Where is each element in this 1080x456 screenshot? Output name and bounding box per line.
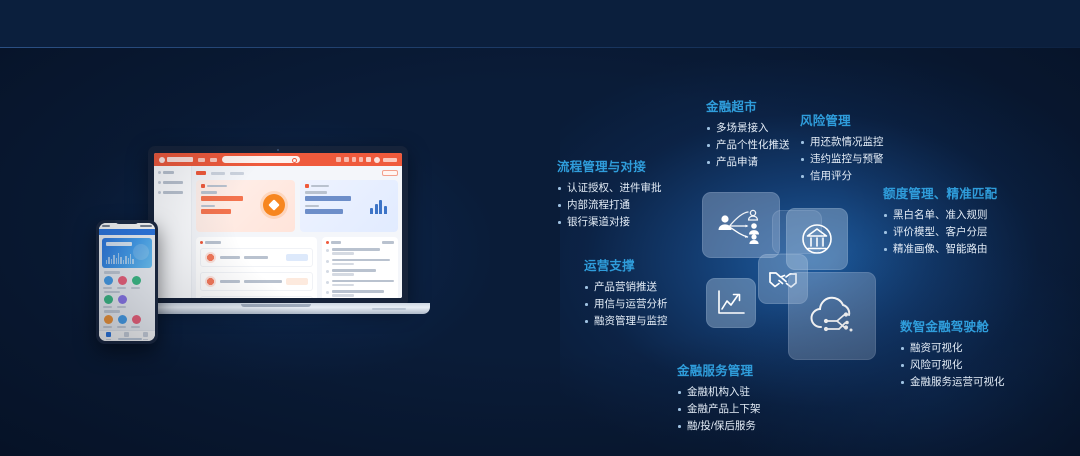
- news-title: [332, 259, 390, 262]
- laptop-screen: [154, 153, 402, 298]
- app-icon-label: [117, 287, 126, 289]
- sidebar-item-icon: [158, 171, 161, 174]
- growth-chart-tile: [706, 278, 756, 328]
- dashboard-avatar: [374, 157, 380, 163]
- block-items: 用还款情况监控 违约监控与预警 信用评分: [800, 134, 884, 185]
- app-icon: [117, 276, 127, 289]
- stat-value: [305, 196, 351, 201]
- panel-icon: [200, 241, 203, 244]
- stat-card-title: [207, 185, 227, 188]
- app-icon: [117, 315, 127, 328]
- dashboard-body: [154, 166, 402, 298]
- sidebar-item-icon: [158, 181, 161, 184]
- stat-card-header: [305, 184, 394, 188]
- tab-item: [211, 172, 225, 175]
- panel-header: [200, 241, 313, 244]
- task-icon: [205, 276, 216, 287]
- stat-value: [201, 196, 243, 201]
- block-item: 内部流程打通: [557, 197, 662, 214]
- block-item: 多场景接入: [706, 120, 790, 137]
- laptop-base: [126, 303, 430, 314]
- cloud-computing-tile: [788, 272, 876, 360]
- laptop-trackpad-notch: [241, 304, 311, 307]
- block-title: 流程管理与对接: [557, 156, 662, 175]
- tab-item: [230, 172, 244, 175]
- news-row: [326, 248, 394, 255]
- news-title: [332, 248, 380, 251]
- people-network-icon: [717, 206, 765, 244]
- app-icon-glyph: [132, 315, 141, 324]
- news-date: [332, 284, 354, 287]
- app-icon: [103, 295, 113, 308]
- app-icon-glyph: [104, 315, 113, 324]
- block-item: 融资可视化: [900, 340, 1005, 357]
- phone-tab-profile: [143, 332, 148, 340]
- growth-chart-icon: [716, 289, 746, 317]
- app-icon: [131, 315, 141, 328]
- stat-card-header: [201, 184, 290, 188]
- block-item: 用还款情况监控: [800, 134, 884, 151]
- dashboard-username: [383, 158, 397, 162]
- dashboard-sidebar: [154, 166, 192, 298]
- phone-section-title: [104, 271, 120, 274]
- app-icon-glyph: [118, 315, 127, 324]
- sidebar-item-label: [163, 181, 183, 184]
- block-items: 产品营销推送 用信与运营分析 融资管理与监控: [584, 279, 668, 330]
- panel-icon: [326, 241, 329, 244]
- app-icon-label: [131, 287, 140, 289]
- task-list-panel: [196, 237, 317, 298]
- block-financial-supermarket: 金融超市 多场景接入 产品个性化推送 产品申请: [706, 96, 790, 171]
- bank-coin-icon: [800, 222, 834, 256]
- dashboard-flag-icon: [359, 157, 363, 162]
- dashboard-menu-item: [198, 158, 205, 162]
- app-icon-glyph: [118, 295, 127, 304]
- news-bullet-icon: [326, 291, 329, 294]
- block-items: 认证授权、进件审批 内部流程打通 银行渠道对接: [557, 180, 662, 231]
- phone-app-mockup: [96, 220, 158, 344]
- news-title: [332, 269, 376, 272]
- task-desc: [244, 280, 282, 283]
- block-item: 金融服务运营可视化: [900, 374, 1005, 391]
- phone-icon-grid: [103, 295, 151, 308]
- stat-value: [201, 209, 231, 214]
- task-name: [220, 256, 240, 259]
- laptop-lid: [148, 146, 408, 304]
- phone-signal-icon: [140, 225, 152, 228]
- stat-label: [201, 191, 217, 194]
- block-items: 多场景接入 产品个性化推送 产品申请: [706, 120, 790, 171]
- block-item: 产品营销推送: [584, 279, 668, 296]
- stat-card-icon: [305, 184, 309, 188]
- block-item: 违约监控与预警: [800, 151, 884, 168]
- app-icon-glyph: [104, 276, 113, 285]
- sidebar-item: [158, 181, 187, 184]
- stat-card-title: [311, 185, 329, 188]
- sidebar-item: [158, 191, 187, 194]
- news-date: [332, 294, 354, 297]
- task-row: [200, 272, 313, 291]
- phone-clock: [102, 225, 110, 228]
- block-item: 金融机构入驻: [677, 384, 761, 401]
- block-item: 产品个性化推送: [706, 137, 790, 154]
- news-bullet-icon: [326, 281, 329, 284]
- dashboard-brand-text: [167, 157, 193, 162]
- stat-label: [201, 205, 215, 208]
- phone-notch: [115, 220, 139, 224]
- panel-title: [331, 241, 341, 244]
- news-row: [326, 259, 394, 266]
- app-icon-label: [103, 306, 112, 308]
- app-icon: [103, 315, 113, 328]
- app-icon-label: [117, 306, 126, 308]
- block-item: 融资管理与监控: [584, 313, 668, 330]
- block-process-management: 流程管理与对接 认证授权、进件审批 内部流程打通 银行渠道对接: [557, 156, 662, 231]
- app-icon-label: [103, 326, 112, 328]
- app-icon-label: [117, 326, 126, 328]
- block-item: 用信与运营分析: [584, 296, 668, 313]
- dashboard-menu-item: [210, 158, 217, 162]
- bar-chart-icon: [370, 198, 390, 214]
- task-row: [200, 248, 313, 267]
- task-name: [220, 280, 240, 283]
- dashboard-bell-icon: [352, 157, 356, 162]
- block-smart-finance-cockpit: 数智金融驾驶舱 融资可视化 风险可视化 金融服务运营可视化: [900, 316, 1005, 391]
- banner-bars-icon: [106, 253, 134, 264]
- news-date: [332, 273, 354, 276]
- laptop-foot: [372, 308, 406, 310]
- phone-icon-grid: [103, 276, 151, 289]
- people-network-tile: [702, 192, 780, 258]
- news-title: [332, 280, 394, 283]
- panel-more-link: [382, 241, 394, 244]
- news-row: [326, 290, 394, 297]
- task-desc: [244, 256, 268, 259]
- app-icon-glyph: [104, 295, 113, 304]
- dashboard-tabs: [196, 170, 398, 176]
- laptop-dashboard-mockup: [148, 146, 438, 336]
- dashboard-search-input: [222, 156, 300, 163]
- task-icon: [205, 252, 216, 263]
- task-status-badge: [286, 254, 308, 261]
- dashboard-action-button: [382, 170, 398, 176]
- stat-label: [305, 205, 319, 208]
- phone-banner: [102, 238, 152, 268]
- news-bullet-icon: [326, 260, 329, 263]
- block-items: 黑白名单、准入规则 评价模型、客户分层 精准画像、智能路由: [883, 207, 997, 258]
- phone-section-title: [104, 291, 120, 294]
- block-title: 金融超市: [706, 96, 790, 115]
- dashboard-main: [192, 166, 402, 298]
- task-status-badge: [286, 278, 308, 285]
- sidebar-item: [158, 171, 187, 174]
- dashboard-topbar-actions: [336, 157, 397, 163]
- news-title: [332, 290, 384, 293]
- block-title: 数智金融驾驶舱: [900, 316, 1005, 335]
- cloud-circuit-icon: [805, 293, 859, 339]
- block-item: 评价模型、客户分层: [883, 224, 997, 241]
- news-date: [332, 263, 354, 266]
- block-item: 认证授权、进件审批: [557, 180, 662, 197]
- app-icon: [103, 276, 113, 289]
- block-risk-management: 风险管理 用还款情况监控 违约监控与预警 信用评分: [800, 110, 884, 185]
- block-title: 金融服务管理: [677, 360, 761, 379]
- dashboard-logo-icon: [159, 157, 165, 163]
- dashboard-brand: [159, 157, 193, 163]
- panel-title: [205, 241, 221, 244]
- dashboard-lists: [196, 237, 398, 298]
- banner-decoration-icon: [133, 244, 149, 260]
- slide-root: 「金融服务管家」助力产业金融服务精准滴灌，提升产业链韧性 DCITS 神州信息: [0, 0, 1080, 456]
- block-quota-management: 额度管理、精准匹配 黑白名单、准入规则 评价模型、客户分层 精准画像、智能路由: [883, 183, 997, 258]
- header-divider: [0, 47, 1080, 48]
- block-item: 黑白名单、准入规则: [883, 207, 997, 224]
- news-list-panel: [322, 237, 398, 298]
- news-bullet-icon: [326, 249, 329, 252]
- sidebar-item-label: [163, 171, 174, 174]
- news-bullet-icon: [326, 270, 329, 273]
- app-icon-label: [131, 326, 140, 328]
- news-row: [326, 280, 394, 287]
- app-icon-glyph: [118, 276, 127, 285]
- dashboard-app-icon: [366, 157, 371, 162]
- dashboard-grid-icon: [336, 157, 341, 162]
- block-item: 金融产品上下架: [677, 401, 761, 418]
- block-title: 运营支撑: [584, 255, 668, 274]
- phone-screen: [99, 223, 155, 341]
- phone-tab-home: [106, 332, 111, 340]
- news-row: [326, 269, 394, 276]
- stat-card: [300, 180, 399, 232]
- app-icon-label: [103, 287, 112, 289]
- task-row: [200, 296, 313, 298]
- dashboard-help-icon: [344, 157, 349, 162]
- phone-home-indicator: [118, 338, 142, 340]
- block-item: 信用评分: [800, 168, 884, 185]
- app-icon-glyph: [132, 276, 141, 285]
- block-items: 金融机构入驻 金融产品上下架 融/投/保后服务: [677, 384, 761, 435]
- block-title: 风险管理: [800, 110, 884, 129]
- block-items: 融资可视化 风险可视化 金融服务运营可视化: [900, 340, 1005, 391]
- laptop-camera-icon: [277, 149, 279, 151]
- panel-header: [326, 241, 394, 244]
- block-financial-service-management: 金融服务管理 金融机构入驻 金融产品上下架 融/投/保后服务: [677, 360, 761, 435]
- news-date: [332, 252, 354, 255]
- stat-card: [196, 180, 295, 232]
- coin-icon: [263, 194, 285, 216]
- phone-nav-bar: [99, 229, 155, 235]
- device-mockups: [96, 140, 446, 360]
- stat-card-icon: [201, 184, 205, 188]
- stat-value: [305, 209, 343, 214]
- block-item: 风险可视化: [900, 357, 1005, 374]
- block-item: 银行渠道对接: [557, 214, 662, 231]
- phone-section: [99, 291, 155, 309]
- app-icon: [117, 295, 127, 308]
- block-item: 精准画像、智能路由: [883, 241, 997, 258]
- phone-section: [99, 271, 155, 289]
- phone-section-title: [104, 310, 120, 313]
- block-operation-support: 运营支撑 产品营销推送 用信与运营分析 融资管理与监控: [584, 255, 668, 330]
- banner-title: [106, 242, 132, 246]
- tab-active: [196, 171, 206, 175]
- dashboard-topbar: [154, 153, 402, 166]
- sidebar-item-icon: [158, 191, 161, 194]
- central-icon-cluster: [700, 188, 876, 364]
- sidebar-item-label: [163, 191, 183, 194]
- header-bar: [0, 0, 1080, 48]
- block-item: 融/投/保后服务: [677, 418, 761, 435]
- app-icon: [131, 276, 141, 289]
- stat-label: [305, 191, 327, 194]
- dashboard-stat-cards: [196, 180, 398, 232]
- block-title: 额度管理、精准匹配: [883, 183, 997, 202]
- block-item: 产品申请: [706, 154, 790, 171]
